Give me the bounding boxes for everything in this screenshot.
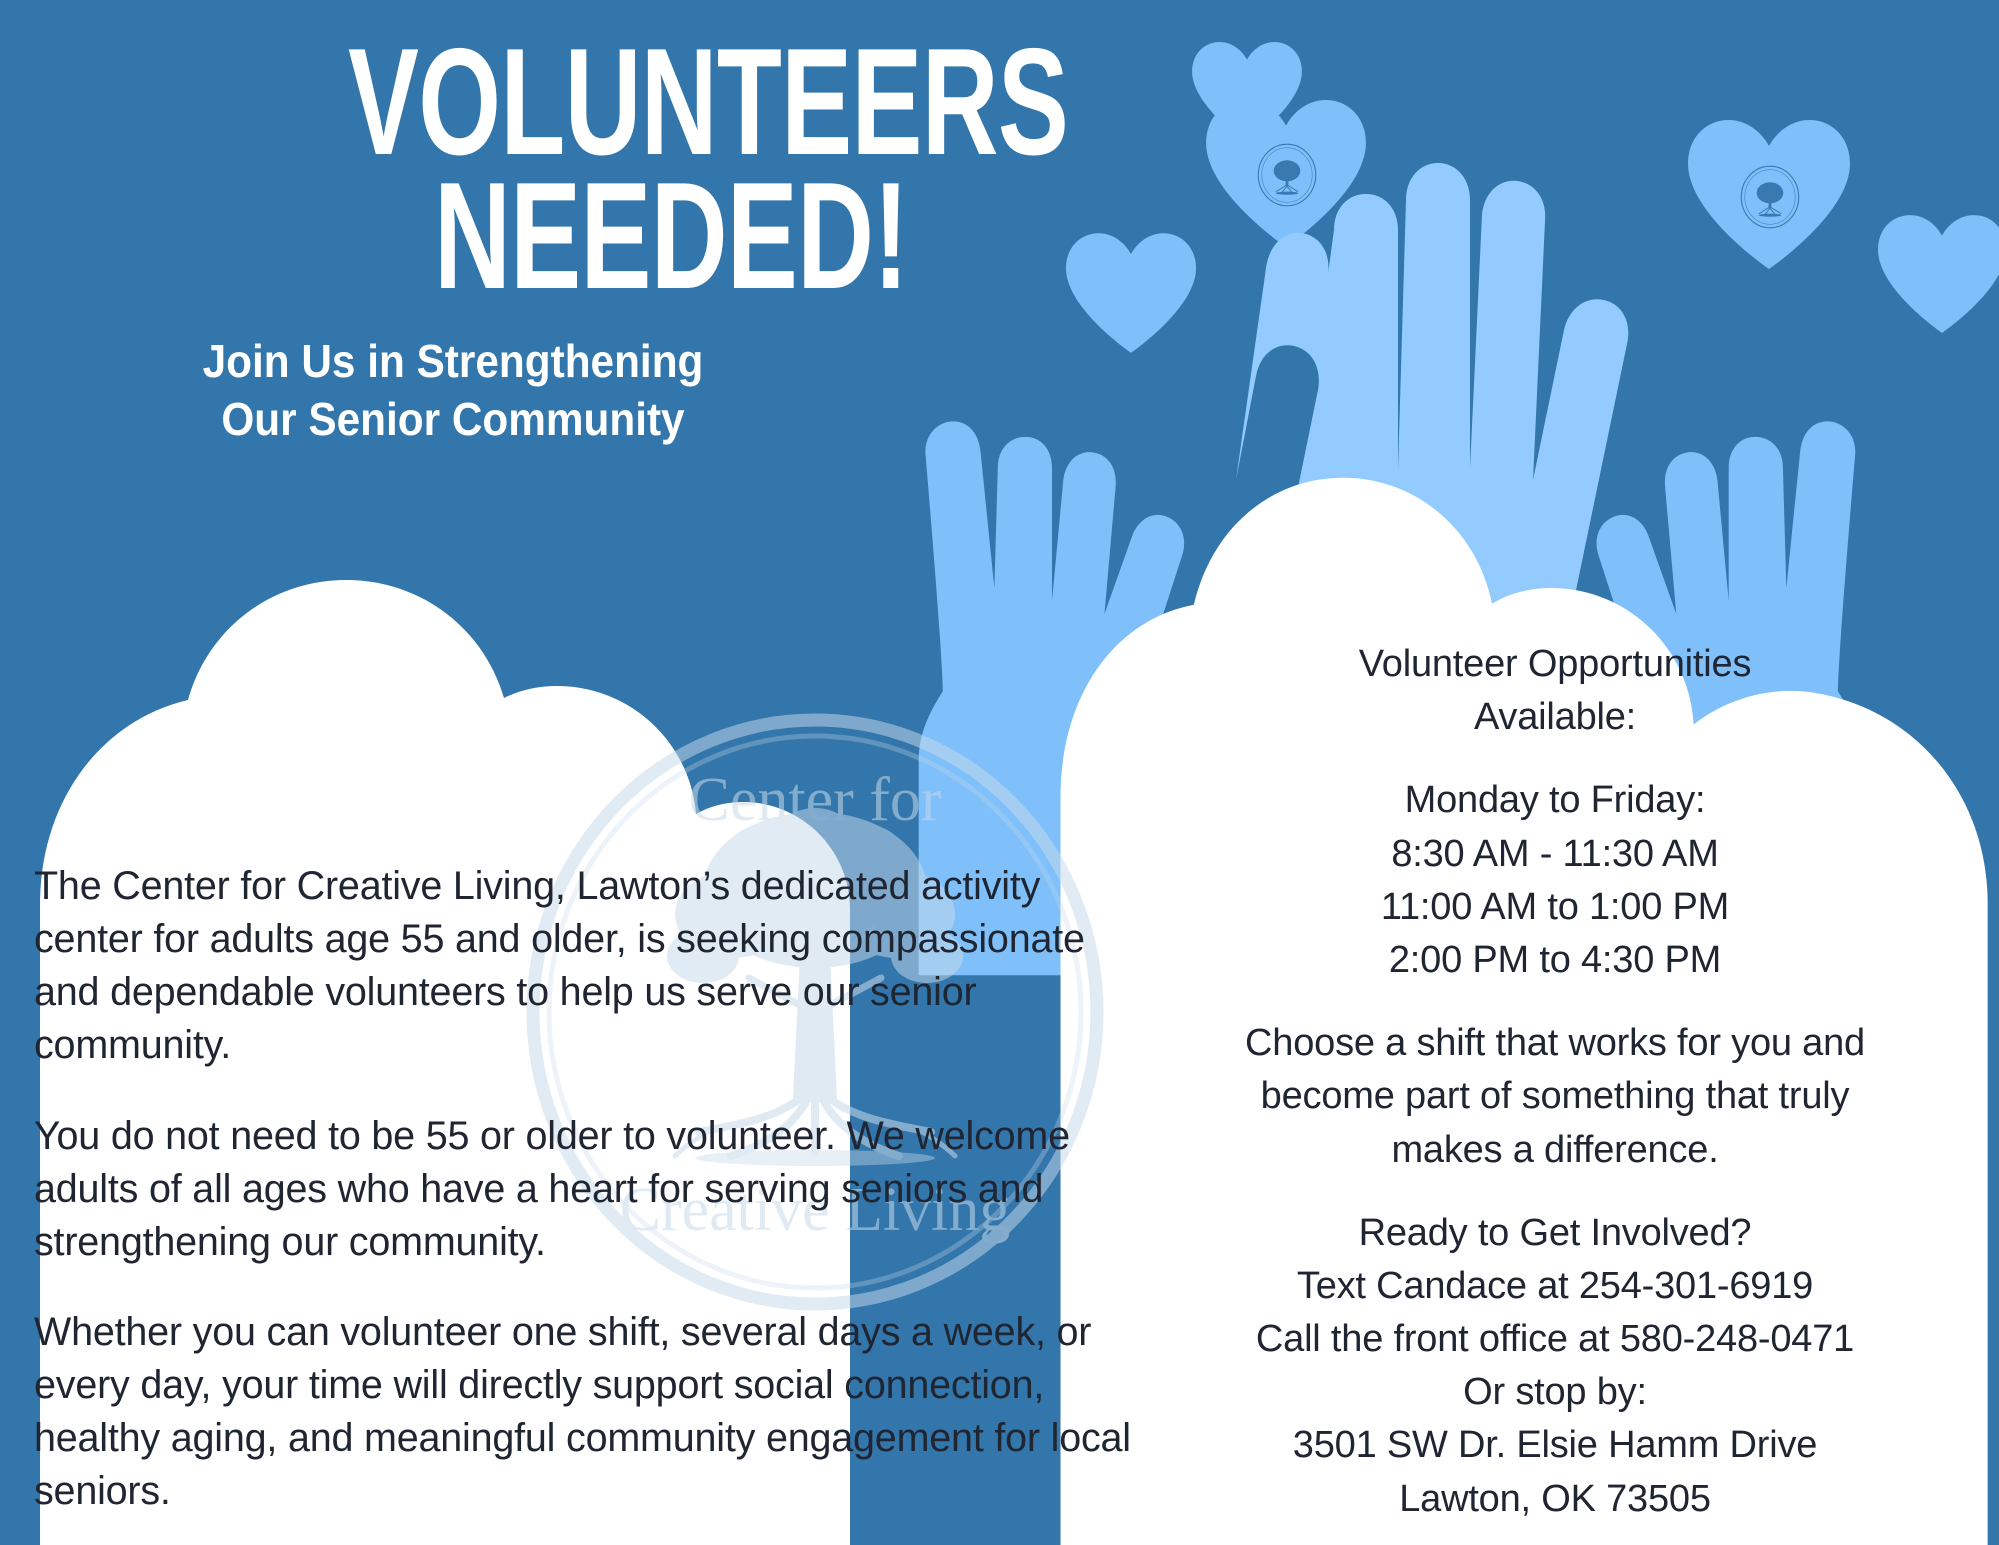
page-subtitle: Join Us in Strengthening Our Senior Comm…	[136, 332, 771, 450]
shift-slot-midday: 11:00 AM to 1:00 PM	[1155, 881, 1955, 934]
shift-schedule: Monday to Friday: 8:30 AM - 11:30 AM 11:…	[1155, 774, 1955, 987]
page-title: VOLUNTEERS NEEDED!	[348, 36, 908, 304]
heart-icon-logo-b	[1688, 120, 1850, 269]
headline-block: VOLUNTEERS NEEDED! Join Us in Strengthen…	[108, 36, 908, 449]
contact-text-line[interactable]: Text Candace at 254-301-6919	[1155, 1260, 1955, 1313]
shift-slot-afternoon: 2:00 PM to 4:30 PM	[1155, 934, 1955, 987]
opportunities-heading-line-2: Available:	[1155, 691, 1955, 744]
shift-note-line-2: become part of something that truly	[1155, 1070, 1955, 1123]
subtitle-line-1: Join Us in Strengthening	[136, 332, 771, 391]
left-body-copy: The Center for Creative Living, Lawton’s…	[34, 860, 1154, 1518]
opportunities-heading-line-1: Volunteer Opportunities	[1155, 638, 1955, 691]
paragraph-eligibility: You do not need to be 55 or older to vol…	[34, 1110, 1154, 1269]
shift-slot-morning: 8:30 AM - 11:30 AM	[1155, 828, 1955, 881]
shift-note: Choose a shift that works for you and be…	[1155, 1017, 1955, 1177]
contact-call-line[interactable]: Call the front office at 580-248-0471	[1155, 1313, 1955, 1366]
right-info-column: Volunteer Opportunities Available: Monda…	[1155, 638, 1955, 1526]
paragraph-impact: Whether you can volunteer one shift, sev…	[34, 1306, 1154, 1518]
paragraph-about: The Center for Creative Living, Lawton’s…	[34, 860, 1154, 1072]
address-line-2: Lawton, OK 73505	[1155, 1473, 1955, 1526]
cta-heading: Ready to Get Involved?	[1155, 1207, 1955, 1260]
shift-note-line-3: makes a difference.	[1155, 1124, 1955, 1177]
shift-note-line-1: Choose a shift that works for you and	[1155, 1017, 1955, 1070]
opportunities-heading: Volunteer Opportunities Available:	[1155, 638, 1955, 744]
subtitle-line-2: Our Senior Community	[136, 390, 771, 449]
volunteer-flyer: Center for Creative Living VOLUNTEERS NE…	[0, 0, 1999, 1545]
heart-icon-far-left	[1066, 233, 1196, 353]
contact-block: Ready to Get Involved? Text Candace at 2…	[1155, 1207, 1955, 1526]
schedule-days-label: Monday to Friday:	[1155, 774, 1955, 827]
heart-icon-far-right	[1878, 215, 1999, 333]
address-line-1: 3501 SW Dr. Elsie Hamm Drive	[1155, 1419, 1955, 1472]
stop-by-label: Or stop by:	[1155, 1366, 1955, 1419]
title-line-2: NEEDED!	[348, 170, 908, 304]
